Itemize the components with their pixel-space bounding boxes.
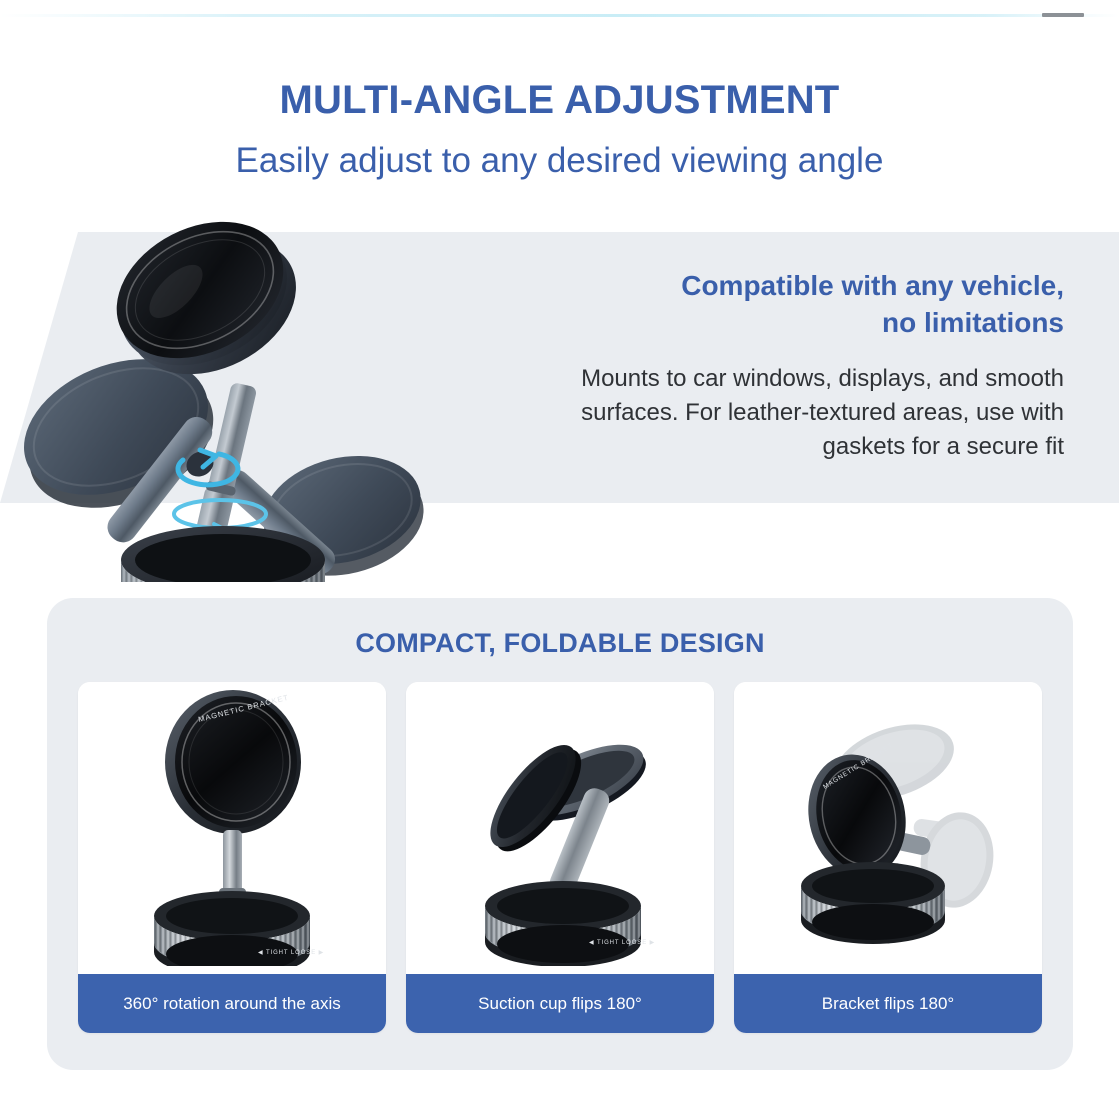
hero-product-image: ◀ TIGHT LOOSE ▶ — [8, 192, 438, 582]
page-title: MULTI-ANGLE ADJUSTMENT — [0, 78, 1119, 123]
mount-upright-render: MAGNETIC BRACKET ◀ — [78, 682, 386, 974]
page-subtitle: Easily adjust to any desired viewing ang… — [0, 141, 1119, 181]
hero-heading-line-2: no limitations — [544, 305, 1064, 342]
hero-heading-line-1: Compatible with any vehicle, — [544, 268, 1064, 305]
foldable-card-caption: 360° rotation around the axis — [78, 974, 386, 1033]
mount-suction-flipped-render: ◀ TIGHT LOOSE ▶ — [406, 682, 714, 974]
foldable-card-caption: Suction cup flips 180° — [406, 974, 714, 1033]
foldable-section-title: COMPACT, FOLDABLE DESIGN — [47, 628, 1073, 659]
hero-body-text: Mounts to car windows, displays, and smo… — [544, 362, 1064, 464]
base-label-text: ◀ TIGHT LOOSE ▶ — [258, 950, 324, 956]
foldable-card[interactable]: MAGNETIC BRACKET ◀ — [78, 682, 386, 1033]
base-label-text: ◀ TIGHT LOOSE ▶ — [589, 940, 655, 946]
foldable-card[interactable]: MAGNETIC BRACKET Bracket flip — [734, 682, 1042, 1033]
foldable-design-section: COMPACT, FOLDABLE DESIGN — [47, 598, 1073, 1070]
mount-bracket-folded-render: MAGNETIC BRACKET — [734, 682, 1042, 974]
hero-copy-block: Compatible with any vehicle, no limitati… — [544, 268, 1064, 464]
foldable-card-caption: Bracket flips 180° — [734, 974, 1042, 1033]
top-decorative-line — [0, 14, 1119, 17]
foldable-card-list: MAGNETIC BRACKET ◀ — [78, 682, 1042, 1033]
hero-heading: Compatible with any vehicle, no limitati… — [544, 268, 1064, 342]
top-decorative-bar — [1042, 13, 1084, 17]
foldable-card[interactable]: ◀ TIGHT LOOSE ▶ Suction cup flips 180° — [406, 682, 714, 1033]
infographic-page: MULTI-ANGLE ADJUSTMENT Easily adjust to … — [0, 0, 1119, 1119]
